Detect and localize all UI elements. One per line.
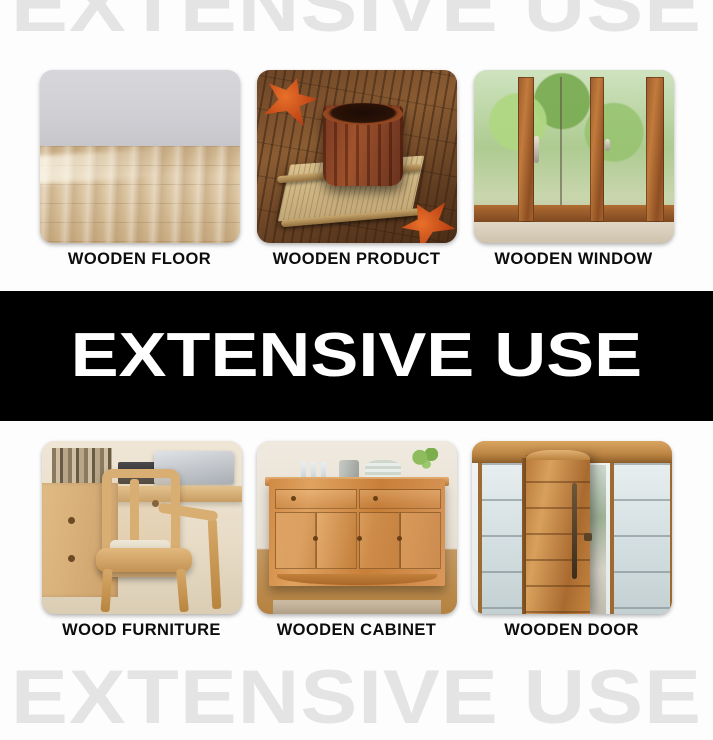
caption-wooden-door: WOODEN DOOR xyxy=(504,621,639,640)
feature-row-top: WOODEN FLOOR WOODEN PRODUCT xyxy=(0,70,713,269)
wooden-cabinet-card[interactable] xyxy=(257,441,457,614)
watermark-top: EXTENSIVE USE xyxy=(0,0,713,44)
wood-furniture-photo xyxy=(42,441,242,614)
caption-wooden-window: WOODEN WINDOW xyxy=(494,250,652,269)
extensive-use-banner: EXTENSIVE USE xyxy=(0,291,713,421)
wooden-door-card[interactable] xyxy=(472,441,672,614)
wooden-product-photo xyxy=(257,70,457,243)
feature-cell-wooden-window[interactable]: WOODEN WINDOW xyxy=(474,70,674,269)
caption-wooden-cabinet: WOODEN CABINET xyxy=(277,621,437,640)
feature-row-bottom: WOOD FURNITURE xyxy=(0,441,713,640)
wood-furniture-card[interactable] xyxy=(42,441,242,614)
caption-wooden-floor: WOODEN FLOOR xyxy=(68,250,211,269)
wooden-floor-card[interactable] xyxy=(40,70,240,243)
feature-cell-wood-furniture[interactable]: WOOD FURNITURE xyxy=(42,441,242,640)
feature-cell-wooden-cabinet[interactable]: WOODEN CABINET xyxy=(257,441,457,640)
banner-title: EXTENSIVE USE xyxy=(71,325,643,387)
wooden-window-card[interactable] xyxy=(474,70,674,243)
feature-cell-wooden-door[interactable]: WOODEN DOOR xyxy=(472,441,672,640)
wooden-product-card[interactable] xyxy=(257,70,457,243)
wooden-window-photo xyxy=(474,70,674,243)
watermark-bottom: EXTENSIVE USE xyxy=(0,660,713,736)
wooden-floor-photo xyxy=(40,70,240,243)
feature-cell-wooden-floor[interactable]: WOODEN FLOOR xyxy=(40,70,240,269)
caption-wooden-product: WOODEN PRODUCT xyxy=(273,250,441,269)
feature-cell-wooden-product[interactable]: WOODEN PRODUCT xyxy=(257,70,457,269)
wooden-door-photo xyxy=(472,441,672,614)
wooden-cabinet-photo xyxy=(257,441,457,614)
caption-wood-furniture: WOOD FURNITURE xyxy=(62,621,221,640)
